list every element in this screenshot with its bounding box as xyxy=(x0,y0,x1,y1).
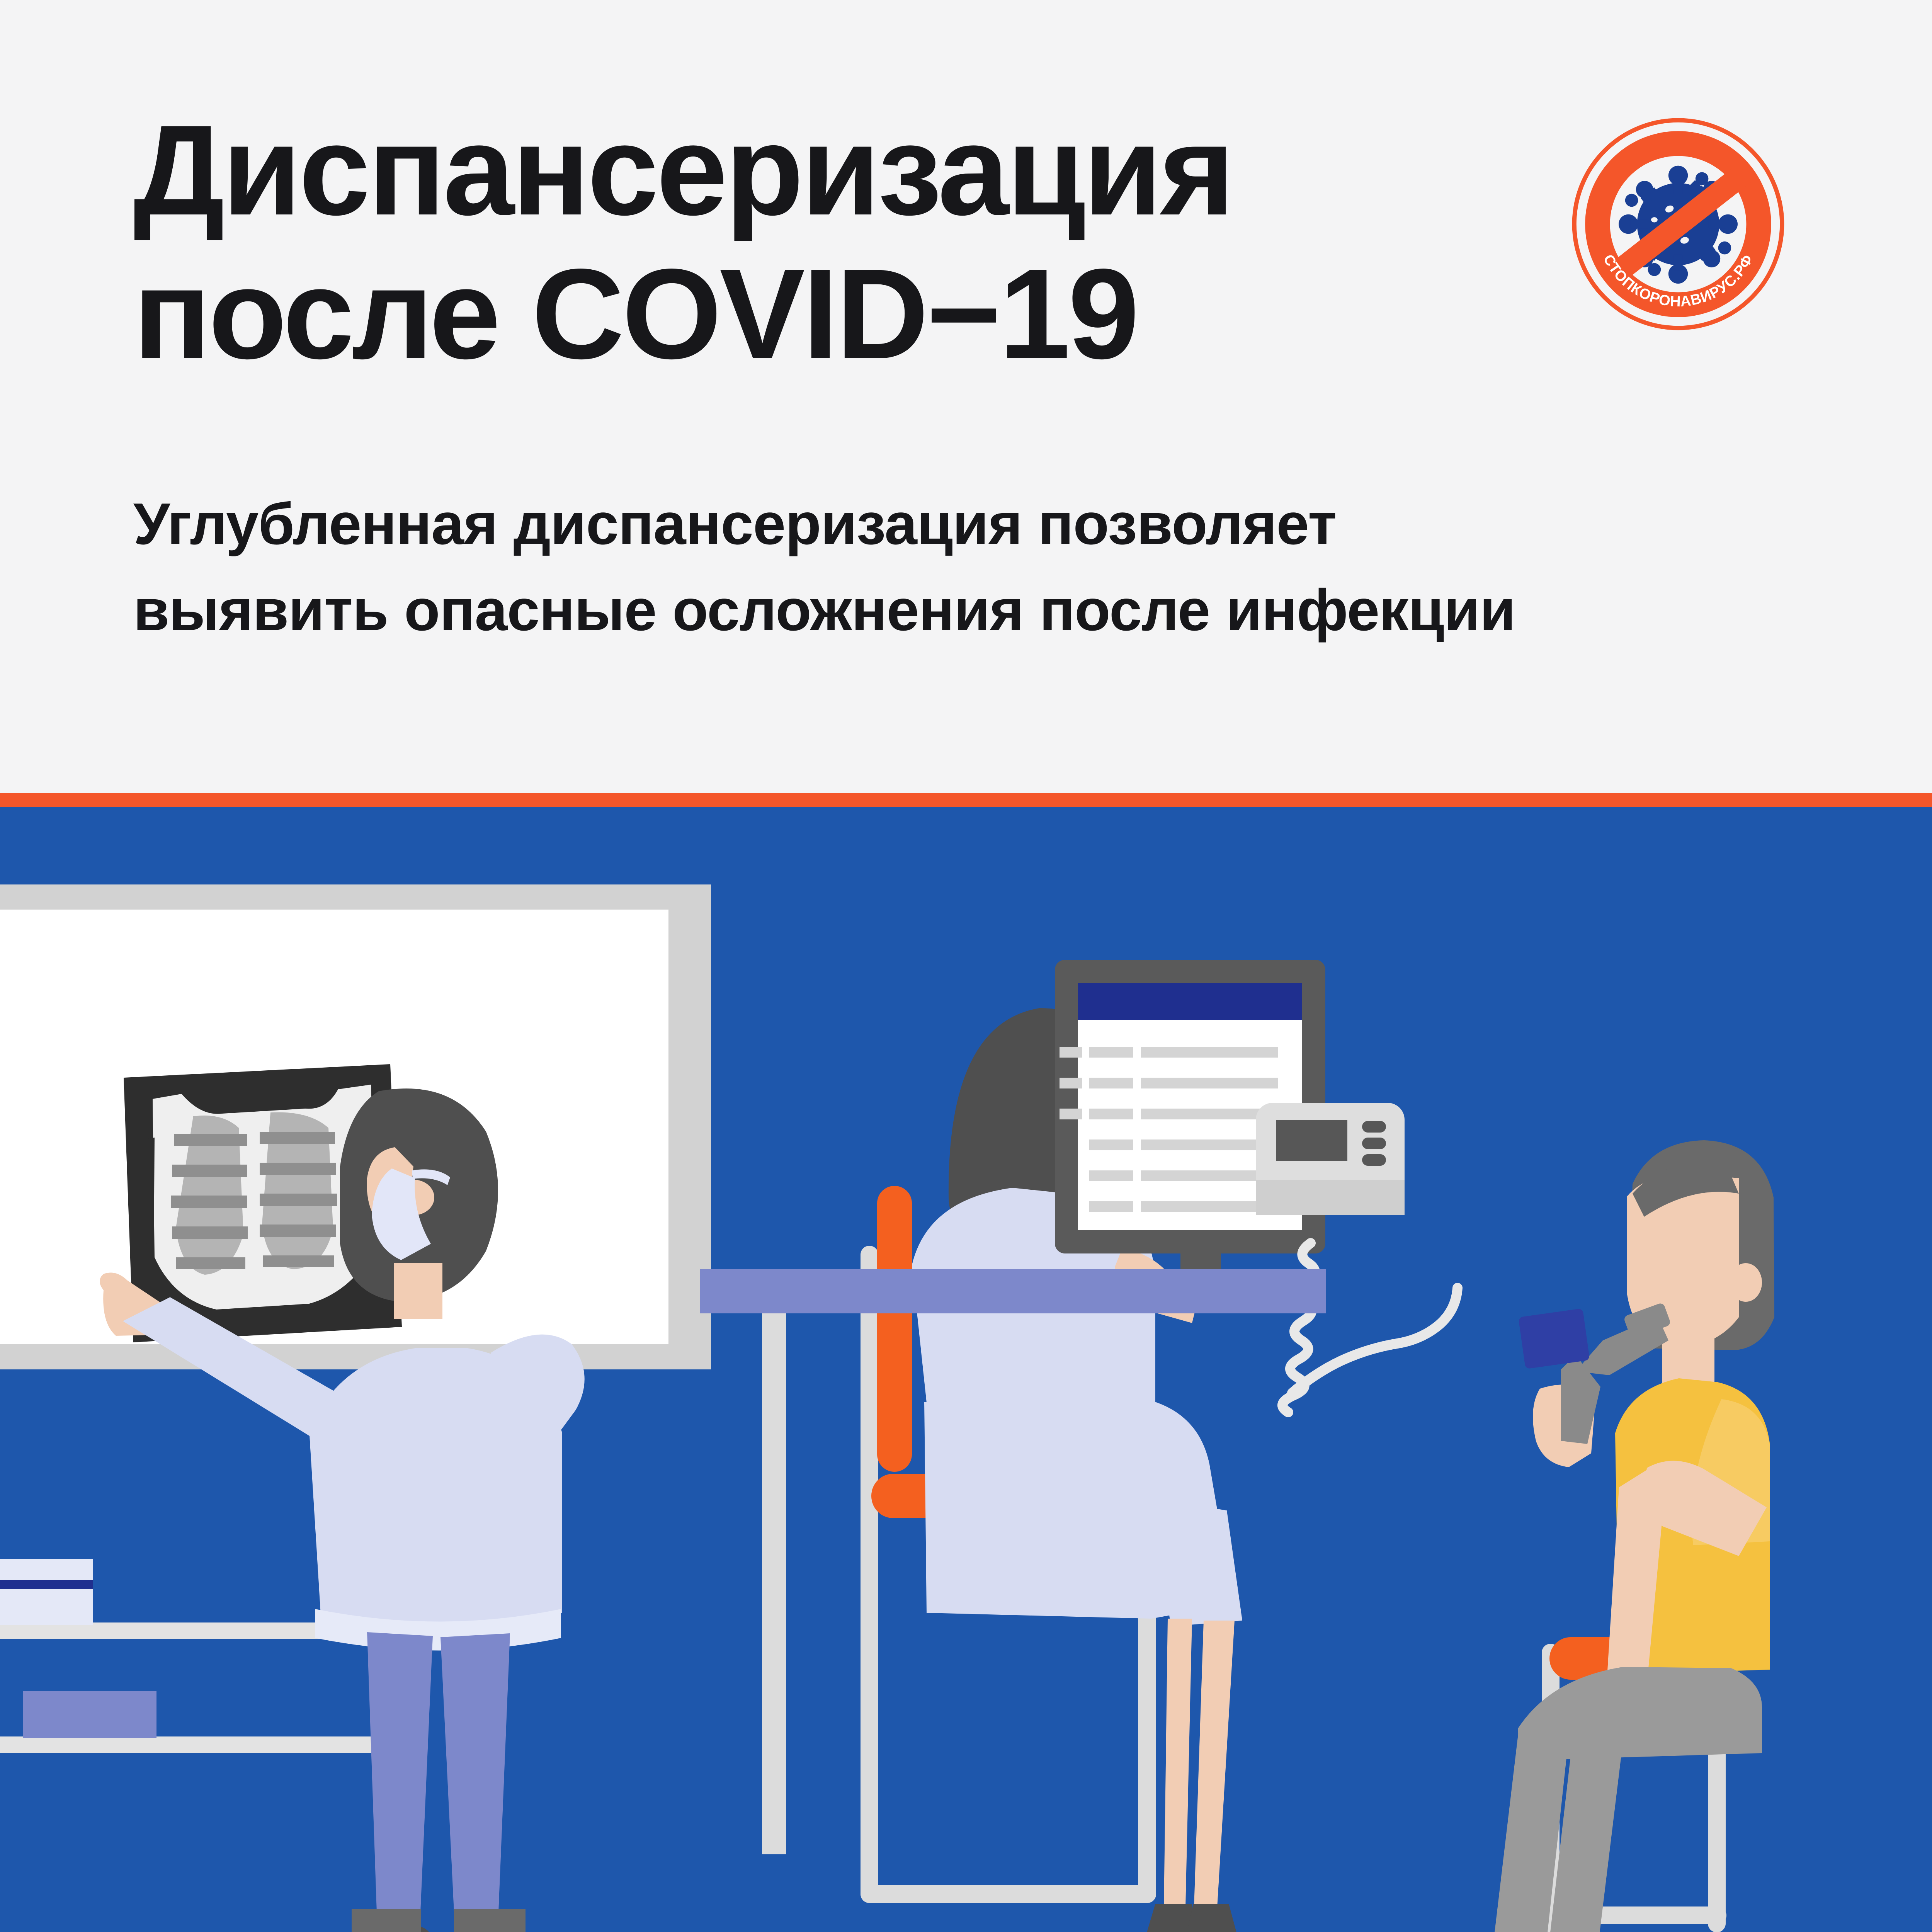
doctor-shoe-left xyxy=(352,1909,421,1932)
spirometer-button-2 xyxy=(1362,1138,1386,1149)
spirometer-screen xyxy=(1276,1120,1347,1161)
orange-divider xyxy=(0,793,1932,807)
spirometer-body-base xyxy=(1256,1180,1405,1215)
page-title: Диспансеризация после COVID−19 xyxy=(133,99,1466,386)
desk-leg-left-front xyxy=(762,1313,786,1854)
nurse-shoe-right xyxy=(1187,1904,1236,1932)
spirometer-device[interactable] xyxy=(1256,1103,1405,1215)
monitor-screen-header-bar xyxy=(1078,983,1302,1020)
header-section: Диспансеризация после COVID−19 Углубленн… xyxy=(0,0,1932,793)
chair-nurse-frame-back xyxy=(861,1246,878,1903)
infographic-poster: Диспансеризация после COVID−19 Углубленн… xyxy=(0,0,1932,1932)
page-subtitle: Углубленная диспансеризация позволяет вы… xyxy=(133,481,1756,654)
chair-nurse-frame-bottom xyxy=(861,1885,1156,1903)
mouthpiece-blue-grip xyxy=(1518,1308,1590,1369)
doctor-neck xyxy=(394,1263,442,1319)
stopcoronavirus-logo[interactable]: СТОПКОРОНАВИРУС.РФ xyxy=(1570,116,1786,332)
desk-front-edge xyxy=(700,1269,1326,1313)
chair-nurse-backrest xyxy=(877,1186,912,1472)
clinic-illustration xyxy=(0,807,1932,1932)
trolley-tray xyxy=(23,1691,156,1738)
trolley-box-stripe xyxy=(0,1580,93,1589)
spirometer-button-3 xyxy=(1362,1154,1386,1166)
patient-ear xyxy=(1730,1263,1762,1302)
doctor-shoe-right xyxy=(454,1909,526,1932)
trolley-box xyxy=(0,1559,93,1625)
spirometer-button-1 xyxy=(1362,1121,1386,1133)
